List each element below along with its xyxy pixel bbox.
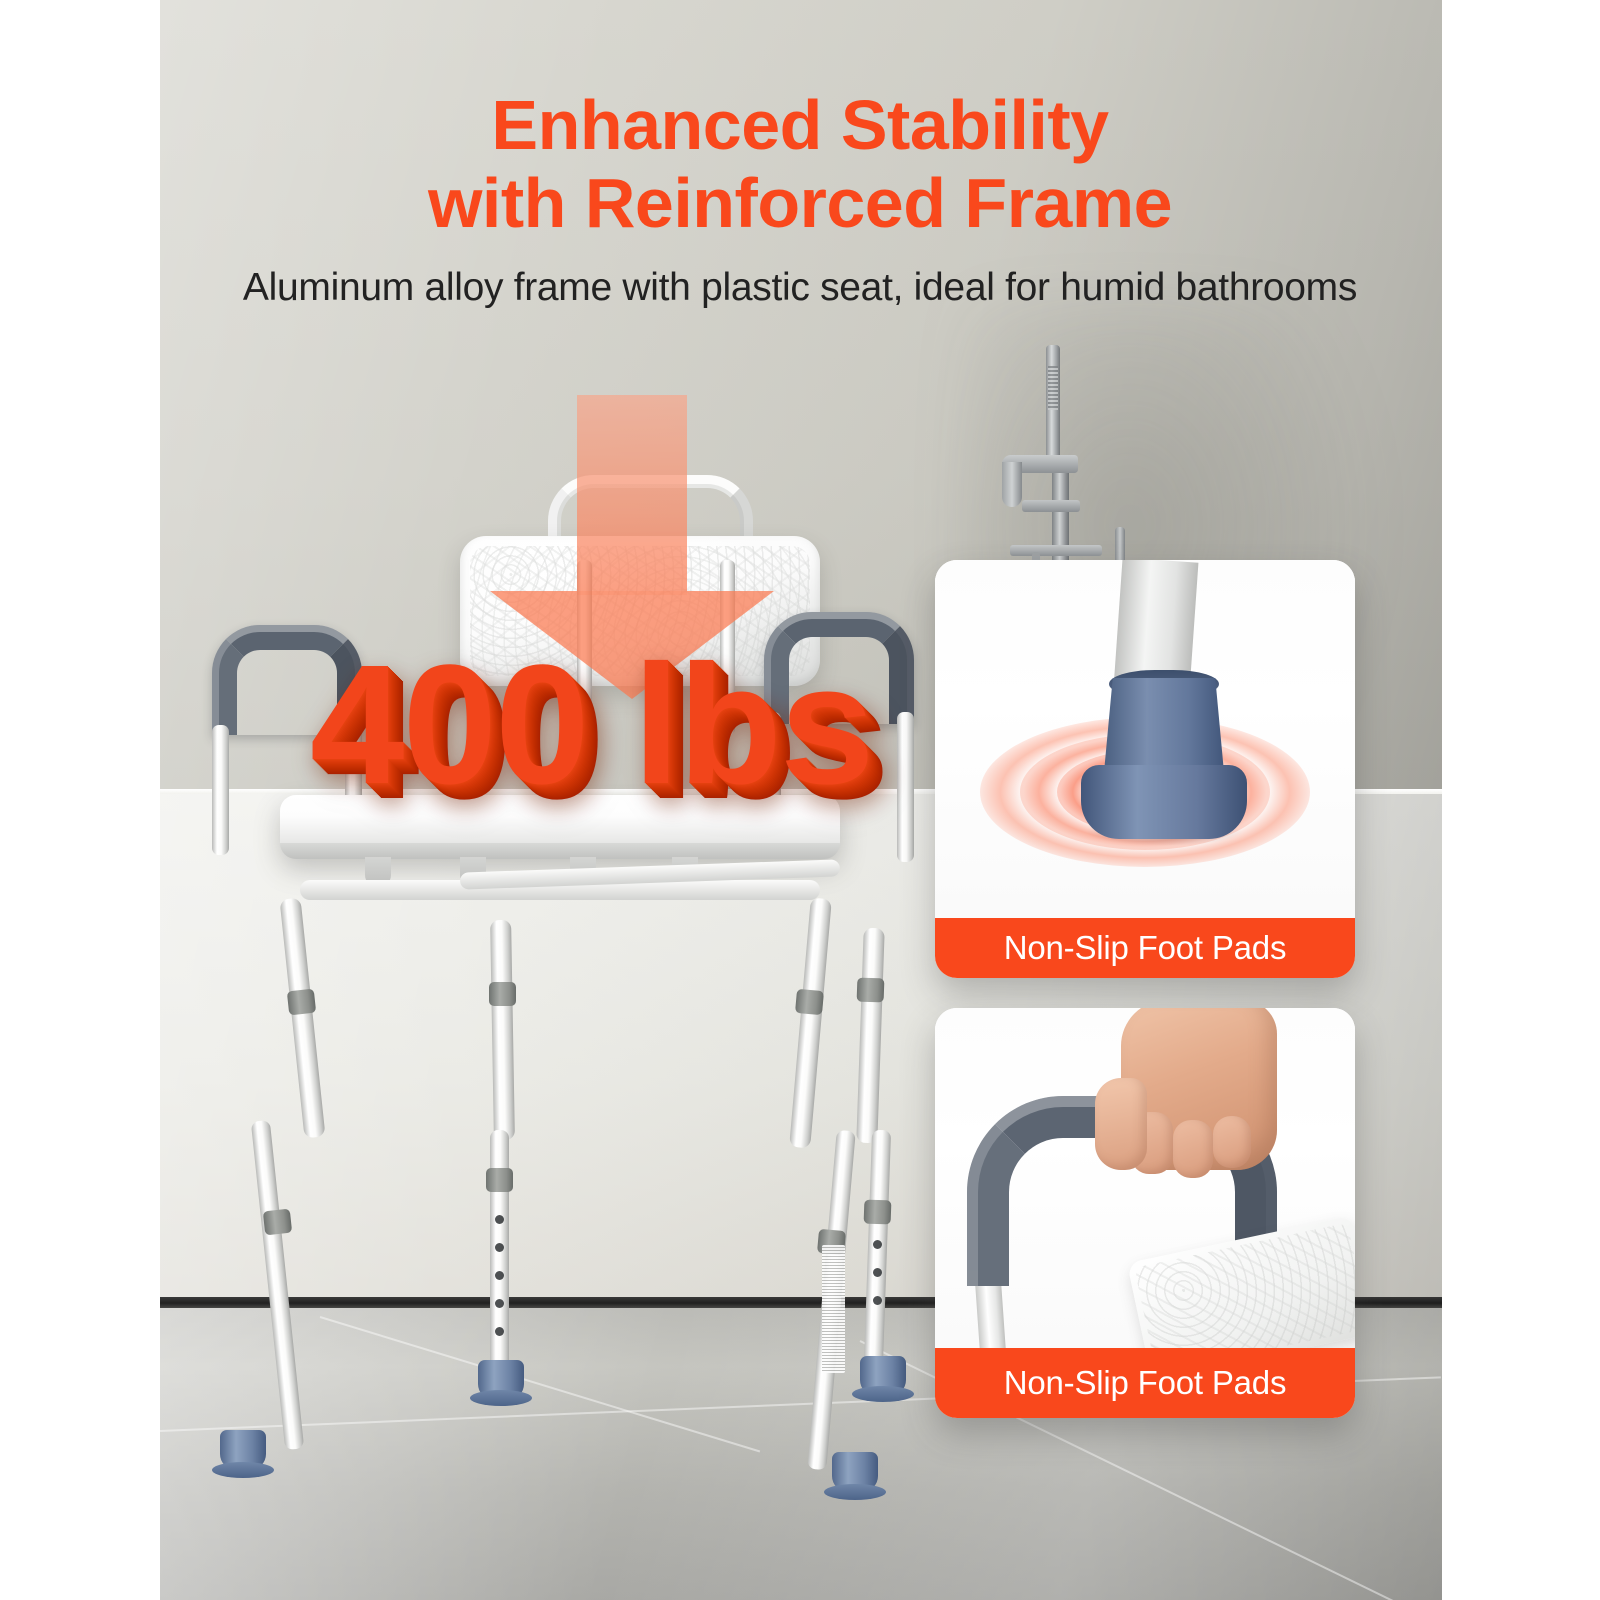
leg-collar [795, 989, 824, 1015]
height-adjustment-holes [873, 1240, 882, 1324]
feature-card-grip-handle[interactable]: Non-Slip Foot Pads [935, 1008, 1355, 1418]
leg-rear-left-upper [490, 920, 515, 1140]
feature-card-caption-foot-pads: Non-Slip Foot Pads [935, 918, 1355, 978]
non-slip-foot-base [824, 1484, 886, 1500]
adjust-hole [495, 1299, 504, 1308]
feature-card-image-foot-pads [935, 560, 1355, 918]
leg-front-right-upper [789, 898, 832, 1149]
leg-collar [857, 978, 885, 1003]
arrow-shaft [577, 395, 687, 595]
leg-collar [287, 989, 316, 1016]
leg-collar [489, 982, 516, 1006]
non-slip-foot-base [212, 1462, 274, 1478]
headline-line-1: Enhanced Stability [0, 86, 1600, 164]
page-headline: Enhanced Stability with Reinforced Frame [0, 86, 1600, 242]
thumb [1095, 1078, 1147, 1170]
headline-line-2: with Reinforced Frame [0, 164, 1600, 242]
non-slip-foot-base [852, 1386, 914, 1402]
finger [1173, 1120, 1213, 1178]
adjust-hole [495, 1271, 504, 1280]
finger [1213, 1116, 1251, 1168]
page-subheadline: Aluminum alloy frame with plastic seat, … [0, 266, 1600, 310]
non-slip-foot-base [470, 1390, 532, 1406]
leg-front-left-upper [280, 898, 326, 1139]
leg-rear-right-upper [856, 928, 884, 1144]
adjust-hole [873, 1296, 882, 1305]
leg-front-left-lower [251, 1120, 304, 1450]
adjust-hole [495, 1215, 504, 1224]
leg-collar [864, 1200, 892, 1225]
leg-collar [486, 1168, 513, 1192]
feature-card-foot-pads[interactable]: Non-Slip Foot Pads [935, 560, 1355, 978]
adjust-hole [873, 1268, 882, 1277]
leg-collar [263, 1209, 292, 1236]
feature-card-caption-grip-handle: Non-Slip Foot Pads [935, 1348, 1355, 1418]
weight-capacity-3d-text: 400 lbs [310, 625, 930, 825]
seat-edge-lip [280, 843, 840, 859]
armrest-upright-left-front [212, 725, 229, 855]
adjust-hole [495, 1243, 504, 1252]
foot-pad-base [1081, 765, 1247, 839]
adjust-hole [873, 1240, 882, 1249]
infographic-canvas: 400 lbs Enhanced Stability with Reinforc… [0, 0, 1600, 1600]
leg-spec-label [822, 1245, 845, 1373]
feature-card-image-grip-handle [935, 1008, 1355, 1348]
adjust-hole [495, 1327, 504, 1336]
height-adjustment-holes [495, 1215, 504, 1355]
